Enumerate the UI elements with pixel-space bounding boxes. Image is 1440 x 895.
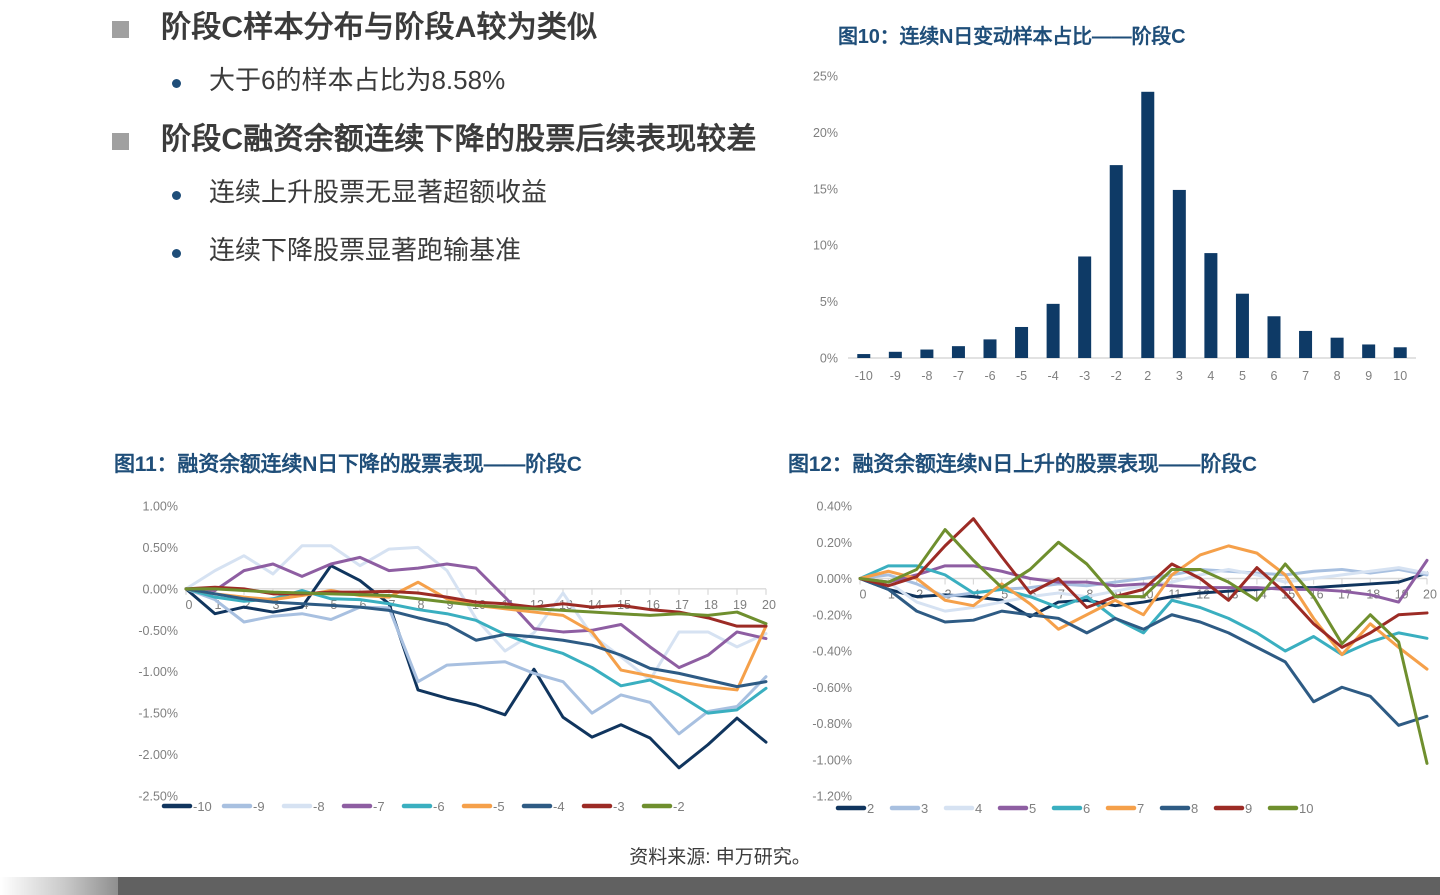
x-axis-tick-label: 2 bbox=[1144, 369, 1151, 383]
y-axis-tick-label: 10% bbox=[813, 239, 838, 253]
x-axis-tick-label: 20 bbox=[1423, 588, 1437, 602]
x-axis-tick-label: 5 bbox=[1239, 369, 1246, 383]
x-axis-tick-label: -5 bbox=[1016, 369, 1027, 383]
figure-12-title: 图12：融资余额连续N日上升的股票表现——阶段C bbox=[788, 448, 1257, 478]
bar bbox=[1173, 190, 1186, 358]
legend-label: 5 bbox=[1029, 801, 1036, 816]
legend-label: 8 bbox=[1191, 801, 1198, 816]
y-axis-tick-label: -1.50% bbox=[138, 707, 178, 721]
slide-root: 阶段C样本分布与阶段A较为类似 大于6的样本占比为8.58% 阶段C融资余额连续… bbox=[0, 0, 1440, 895]
bar bbox=[1362, 344, 1375, 358]
y-axis-tick-label: -0.80% bbox=[812, 717, 852, 731]
x-axis-tick-label: 14 bbox=[588, 598, 602, 612]
x-axis-tick-label: 4 bbox=[1207, 369, 1214, 383]
bar bbox=[1078, 256, 1091, 358]
bullet-text: 大于6的样本占比为8.58% bbox=[209, 62, 505, 98]
y-axis-tick-label: 0.00% bbox=[817, 572, 852, 586]
legend-label: 4 bbox=[975, 801, 982, 816]
x-axis-tick-label: 4 bbox=[973, 588, 980, 602]
legend-label: 2 bbox=[867, 801, 874, 816]
y-axis-tick-label: -0.20% bbox=[812, 608, 852, 622]
x-axis-tick-label: 18 bbox=[704, 598, 718, 612]
bullet-level2-3: 连续下降股票显著跑输基准 bbox=[172, 232, 772, 268]
x-axis-tick-label: 9 bbox=[1365, 369, 1372, 383]
y-axis-tick-label: -0.50% bbox=[138, 624, 178, 638]
bar bbox=[920, 350, 933, 358]
bullet-text: 连续上升股票无显著超额收益 bbox=[209, 174, 547, 210]
y-axis-tick-label: -2.50% bbox=[138, 790, 178, 804]
bullet-text: 阶段C融资余额连续下降的股票后续表现较差 bbox=[161, 120, 757, 160]
bullet-text: 阶段C样本分布与阶段A较为类似 bbox=[161, 8, 597, 48]
y-axis-tick-label: 0.50% bbox=[143, 541, 178, 555]
y-axis-tick-label: 0.00% bbox=[143, 582, 178, 596]
bar bbox=[1015, 327, 1028, 358]
x-axis-tick-label: 19 bbox=[733, 598, 747, 612]
x-axis-tick-label: 7 bbox=[1302, 369, 1309, 383]
bullet-list: 阶段C样本分布与阶段A较为类似 大于6的样本占比为8.58% 阶段C融资余额连续… bbox=[112, 8, 772, 290]
figure-10-chart: 0%5%10%15%20%25%-10-9-8-7-6-5-4-3-223456… bbox=[786, 56, 1436, 396]
y-axis-tick-label: -1.00% bbox=[812, 753, 852, 767]
bar bbox=[1236, 294, 1249, 358]
bar bbox=[1394, 347, 1407, 358]
y-axis-tick-label: 20% bbox=[813, 126, 838, 140]
y-axis-tick-label: -0.40% bbox=[812, 645, 852, 659]
bullet-text: 连续下降股票显著跑输基准 bbox=[209, 232, 521, 268]
x-axis-tick-label: 20 bbox=[762, 598, 776, 612]
legend-label: 7 bbox=[1137, 801, 1144, 816]
figure-11-panel: 图11：融资余额连续N日下降的股票表现——阶段C 1.00%0.50%0.00%… bbox=[108, 440, 780, 860]
legend-label: -3 bbox=[613, 799, 625, 814]
bar bbox=[1331, 338, 1344, 358]
source-note: 资料来源: 申万研究。 bbox=[0, 842, 1440, 869]
y-axis-tick-label: 5% bbox=[820, 295, 838, 309]
y-axis-tick-label: 15% bbox=[813, 182, 838, 196]
x-axis-tick-label: 0 bbox=[860, 588, 867, 602]
x-axis-tick-label: 6 bbox=[1271, 369, 1278, 383]
y-axis-tick-label: 0.20% bbox=[817, 536, 852, 550]
legend-label: -6 bbox=[433, 799, 445, 814]
bar bbox=[984, 339, 997, 358]
figure-12-panel: 图12：融资余额连续N日上升的股票表现——阶段C 0.40%0.20%0.00%… bbox=[786, 440, 1440, 860]
y-axis-tick-label: -0.60% bbox=[812, 681, 852, 695]
x-axis-tick-label: -2 bbox=[1111, 369, 1122, 383]
x-axis-tick-label: -6 bbox=[984, 369, 995, 383]
x-axis-tick-label: 2 bbox=[916, 588, 923, 602]
y-axis-tick-label: 1.00% bbox=[143, 500, 178, 514]
chart-legend: 2345678910 bbox=[838, 801, 1313, 816]
footer-bar bbox=[0, 877, 1440, 895]
y-axis-tick-label: 0% bbox=[820, 352, 838, 366]
x-axis-tick-label: 3 bbox=[1176, 369, 1183, 383]
bar bbox=[1110, 165, 1123, 358]
bar bbox=[952, 346, 965, 358]
figure-10-title: 图10：连续N日变动样本占比——阶段C bbox=[838, 20, 1185, 49]
x-axis-tick-label: 8 bbox=[1334, 369, 1341, 383]
figure-12-chart: 0.40%0.20%0.00%-0.20%-0.40%-0.60%-0.80%-… bbox=[786, 488, 1440, 860]
square-bullet-icon bbox=[112, 21, 129, 38]
bar bbox=[1047, 304, 1060, 358]
legend-label: 10 bbox=[1299, 801, 1313, 816]
x-axis-tick-label: 10 bbox=[1393, 369, 1407, 383]
legend-label: -9 bbox=[253, 799, 265, 814]
bar bbox=[1299, 331, 1312, 358]
legend-label: -2 bbox=[673, 799, 685, 814]
legend-label: 6 bbox=[1083, 801, 1090, 816]
legend-label: -8 bbox=[313, 799, 325, 814]
legend-label: -7 bbox=[373, 799, 385, 814]
figure-11-chart: 1.00%0.50%0.00%-0.50%-1.00%-1.50%-2.00%-… bbox=[108, 488, 780, 860]
round-bullet-icon bbox=[172, 249, 181, 258]
bullet-level1-1: 阶段C样本分布与阶段A较为类似 bbox=[112, 8, 772, 48]
y-axis-tick-label: -2.00% bbox=[138, 748, 178, 762]
x-axis-tick-label: -7 bbox=[953, 369, 964, 383]
bullet-level2-2: 连续上升股票无显著超额收益 bbox=[172, 174, 772, 210]
figure-10-panel: 图10：连续N日变动样本占比——阶段C 0%5%10%15%20%25%-10-… bbox=[786, 8, 1436, 398]
x-axis-tick-label: -9 bbox=[890, 369, 901, 383]
legend-label: 9 bbox=[1245, 801, 1252, 816]
round-bullet-icon bbox=[172, 191, 181, 200]
x-axis-tick-label: -3 bbox=[1079, 369, 1090, 383]
legend-label: 3 bbox=[921, 801, 928, 816]
chart-legend: -10-9-8-7-6-5-4-3-2 bbox=[164, 799, 685, 814]
bar bbox=[1268, 316, 1281, 358]
bar bbox=[889, 352, 902, 358]
y-axis-tick-label: -1.00% bbox=[138, 665, 178, 679]
legend-label: -4 bbox=[553, 799, 565, 814]
x-axis-tick-label: -4 bbox=[1048, 369, 1059, 383]
figure-11-title: 图11：融资余额连续N日下降的股票表现——阶段C bbox=[114, 448, 582, 478]
x-axis-tick-label: -10 bbox=[855, 369, 873, 383]
x-axis-tick-label: 17 bbox=[675, 598, 689, 612]
y-axis-tick-label: 0.40% bbox=[817, 500, 852, 514]
round-bullet-icon bbox=[172, 79, 181, 88]
bar bbox=[1204, 253, 1217, 358]
legend-label: -5 bbox=[493, 799, 505, 814]
y-axis-tick-label: 25% bbox=[813, 70, 838, 84]
bullet-level2-1: 大于6的样本占比为8.58% bbox=[172, 62, 772, 98]
footer-gradient bbox=[0, 877, 118, 895]
y-axis-tick-label: -1.20% bbox=[812, 790, 852, 804]
legend-label: -10 bbox=[193, 799, 212, 814]
bar bbox=[857, 354, 870, 358]
x-axis-tick-label: -8 bbox=[921, 369, 932, 383]
x-axis-tick-label: 0 bbox=[186, 598, 193, 612]
square-bullet-icon bbox=[112, 133, 129, 150]
bar bbox=[1141, 92, 1154, 358]
bullet-level1-2: 阶段C融资余额连续下降的股票后续表现较差 bbox=[112, 120, 772, 160]
